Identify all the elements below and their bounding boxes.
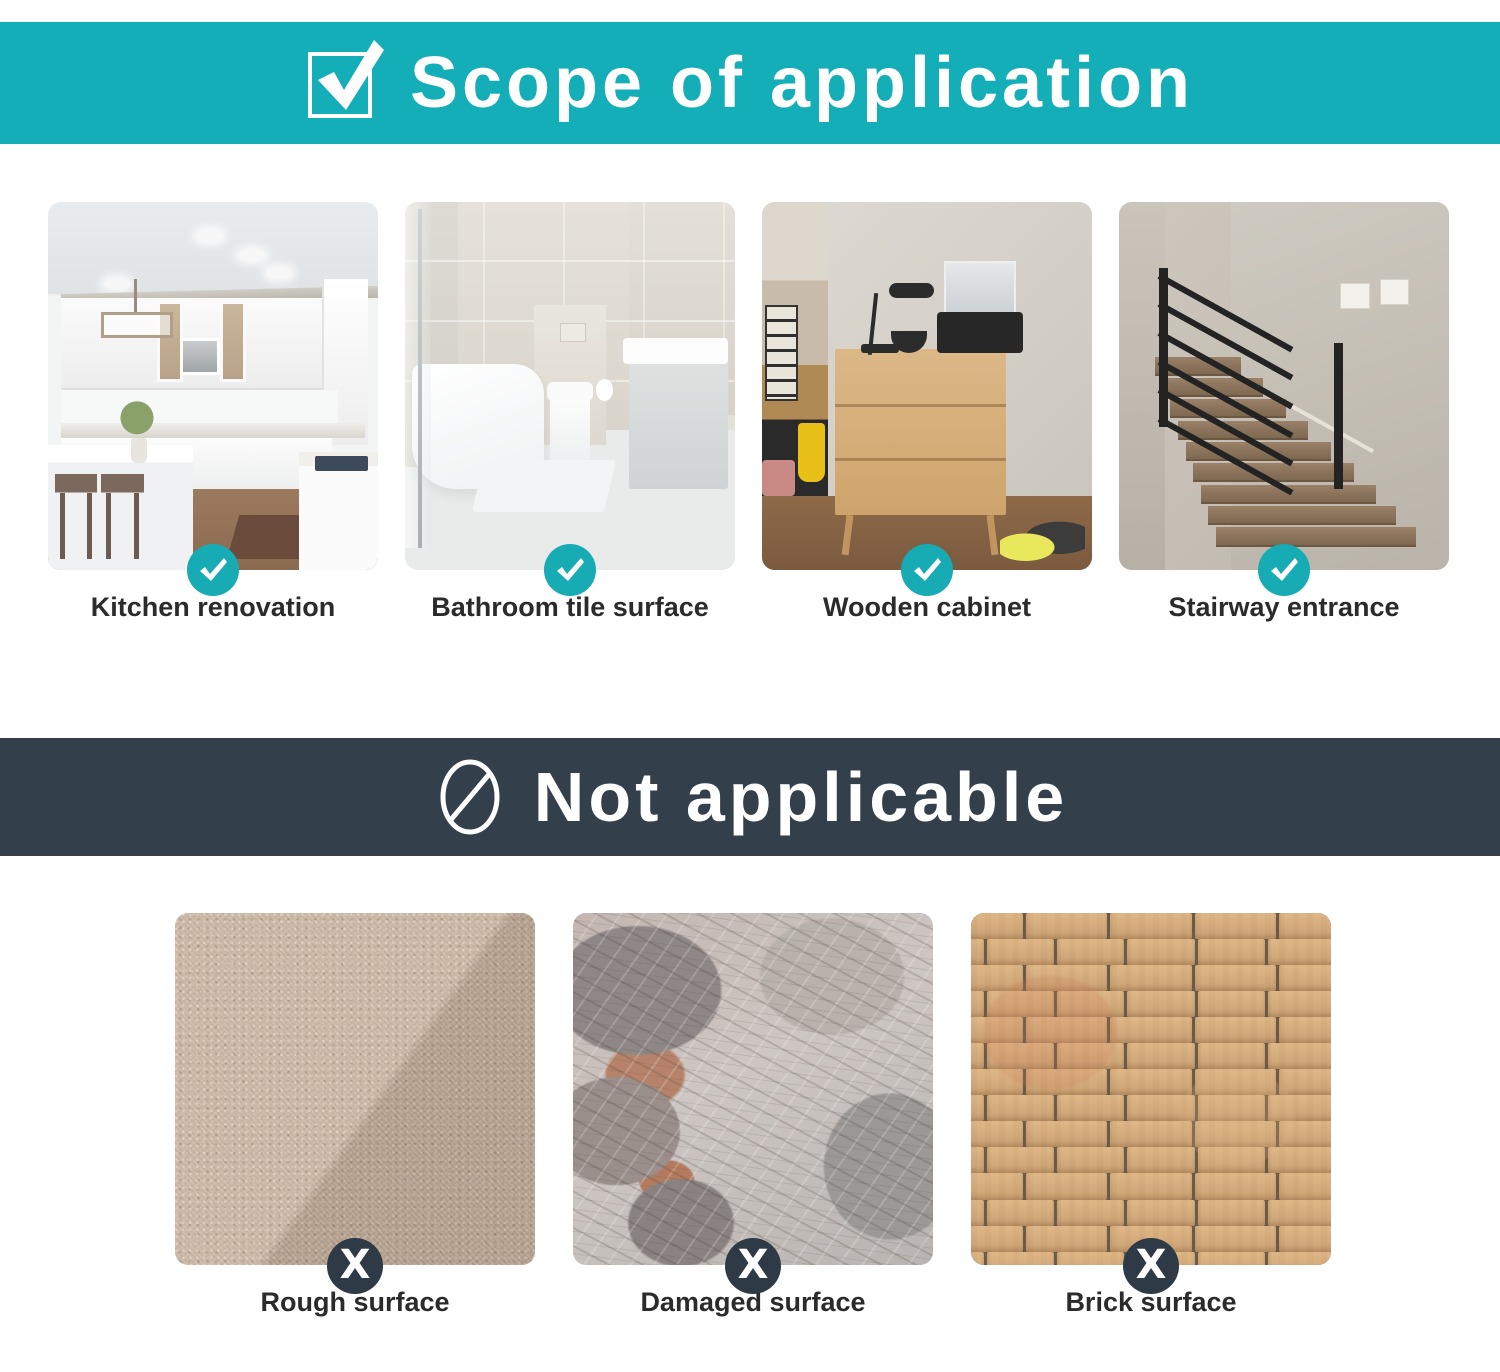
scope-card-kitchen: Kitchen renovation bbox=[48, 202, 378, 570]
rough-stucco-photo bbox=[175, 913, 535, 1265]
scope-card-bathroom: Bathroom tile surface bbox=[405, 202, 735, 570]
card-caption: Wooden cabinet bbox=[762, 592, 1092, 623]
check-badge bbox=[187, 544, 239, 596]
check-badge bbox=[901, 544, 953, 596]
scope-items-row: Kitchen renovation bbox=[48, 202, 1452, 570]
brick-wall-photo bbox=[971, 913, 1331, 1265]
na-card-rough: X Rough surface bbox=[175, 913, 535, 1265]
check-badge bbox=[544, 544, 596, 596]
card-caption: Stairway entrance bbox=[1119, 592, 1449, 623]
na-card-brick: X Brick surface bbox=[971, 913, 1331, 1265]
not-applicable-items-row: X Rough surface X Damaged surface X Bric… bbox=[175, 913, 1332, 1265]
x-badge-glyph: X bbox=[340, 1245, 371, 1285]
peeling-paint-photo bbox=[573, 913, 933, 1265]
card-caption: Kitchen renovation bbox=[48, 592, 378, 623]
check-badge bbox=[1258, 544, 1310, 596]
x-badge-glyph: X bbox=[1136, 1245, 1167, 1285]
na-card-damaged: X Damaged surface bbox=[573, 913, 933, 1265]
x-badge: X bbox=[725, 1238, 781, 1294]
prohibition-icon bbox=[432, 759, 508, 835]
not-applicable-banner: Not applicable bbox=[0, 738, 1500, 856]
wooden-cabinet-photo bbox=[762, 202, 1092, 570]
kitchen-photo bbox=[48, 202, 378, 570]
infographic-page: Scope of application bbox=[0, 0, 1500, 1372]
bathroom-photo bbox=[405, 202, 735, 570]
x-badge: X bbox=[327, 1238, 383, 1294]
x-badge-glyph: X bbox=[738, 1245, 769, 1285]
scope-card-cabinet: Wooden cabinet bbox=[762, 202, 1092, 570]
card-caption: Bathroom tile surface bbox=[405, 592, 735, 623]
checkbox-checked-icon bbox=[306, 44, 384, 122]
x-badge: X bbox=[1123, 1238, 1179, 1294]
scope-card-stairway: Stairway entrance bbox=[1119, 202, 1449, 570]
not-applicable-banner-title: Not applicable bbox=[534, 762, 1068, 832]
stairway-photo bbox=[1119, 202, 1449, 570]
scope-banner-title: Scope of application bbox=[410, 47, 1194, 119]
scope-banner: Scope of application bbox=[0, 22, 1500, 144]
